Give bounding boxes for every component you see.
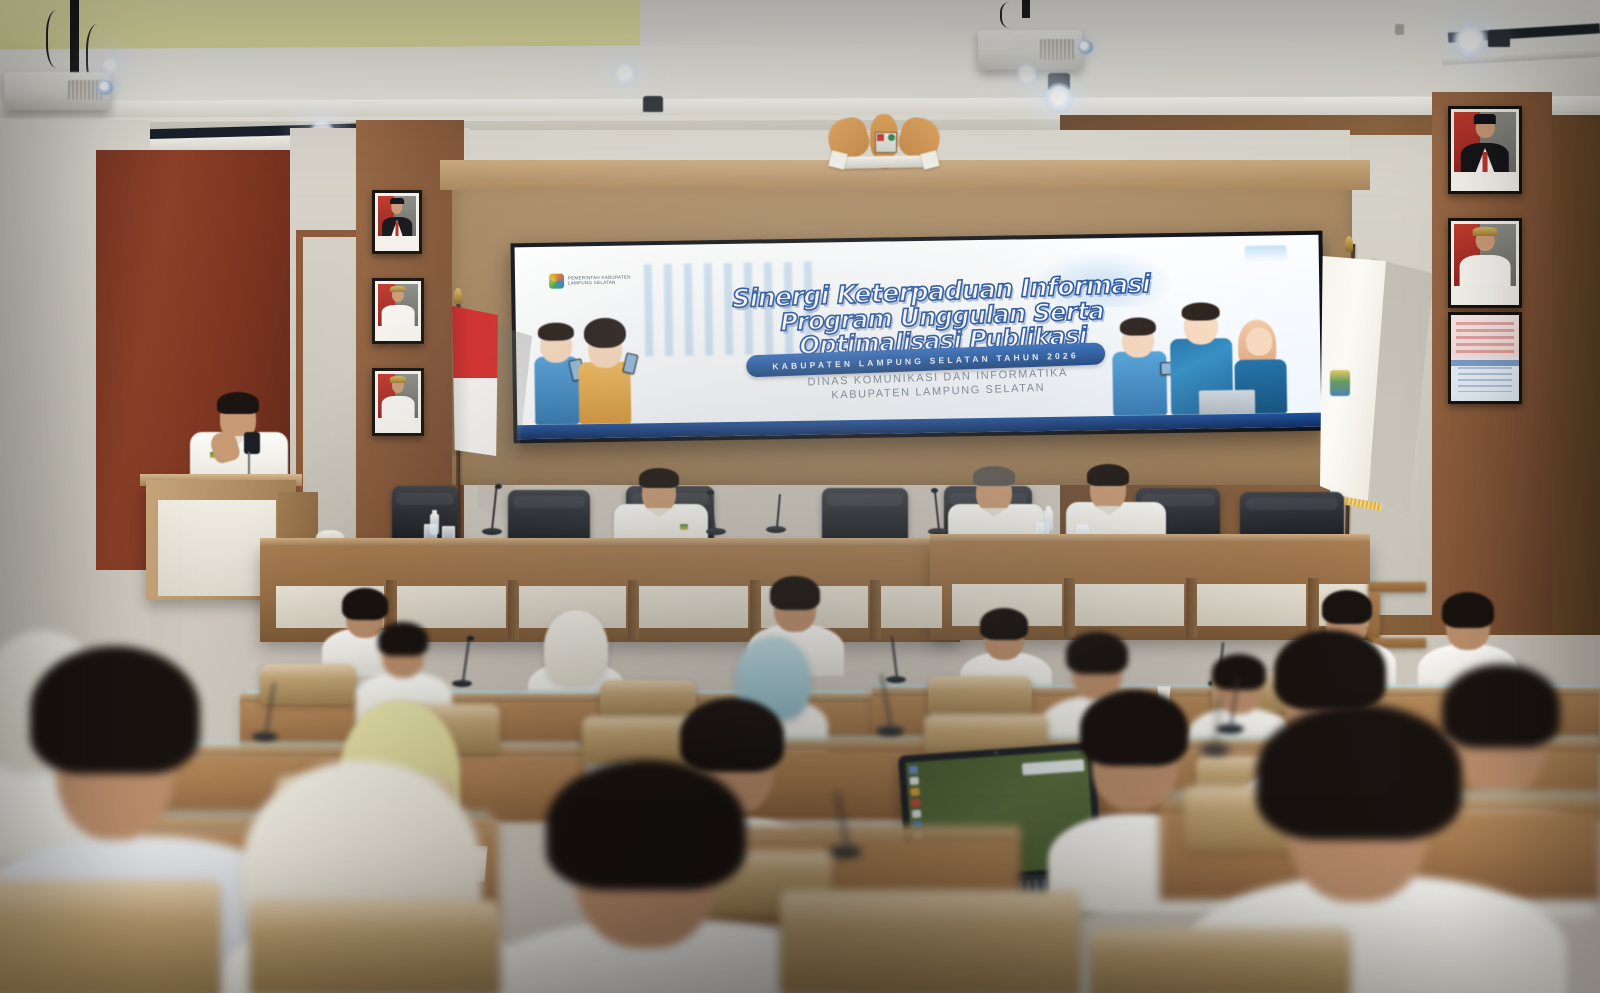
portrait-white-uniform (382, 396, 415, 418)
frame-right-3 (1448, 312, 1522, 404)
flag-regional-emblem (1330, 370, 1350, 396)
portrait-caption (375, 424, 421, 433)
portrait-white-uniform (1460, 255, 1511, 286)
audience-mic-stem-1 (462, 638, 470, 682)
projector-indicator-left (100, 55, 120, 75)
ceiling-sensor (1395, 24, 1404, 35)
mascot-girl-phone (622, 352, 638, 374)
audience-mic-stem-2 (891, 636, 898, 678)
desktop-icon-2[interactable] (910, 777, 920, 786)
downlight-ceiling-1-body (643, 96, 663, 112)
desktop-icon-3[interactable] (910, 788, 920, 797)
desktop-icon-1[interactable] (909, 766, 919, 775)
desktop-icon-5[interactable] (912, 810, 922, 819)
panelist-left-name-badge (680, 524, 688, 530)
portrait-ceremonial-cap (1473, 227, 1498, 236)
audience-hair (1322, 590, 1372, 624)
seat-back-r1-3[interactable] (928, 676, 1032, 716)
audience-hair (30, 646, 200, 774)
portrait-tie (1483, 152, 1488, 172)
document-color-band (1451, 360, 1519, 366)
head-table-divider-2 (508, 580, 519, 640)
led-government-logo: PEMERINTAH KABUPATEN LAMPUNG SELATAN (549, 272, 631, 288)
seat-back-fg-3[interactable] (780, 890, 1080, 993)
garuda-pancasila-emblem (828, 112, 940, 176)
audience-hair (1442, 592, 1494, 628)
portrait-governor-left (378, 284, 418, 326)
projector-vent-center (1040, 39, 1073, 60)
audience-hair (546, 760, 746, 890)
garuda-shield (875, 132, 897, 153)
audience-hair (770, 576, 820, 610)
frame-left-2-mat (375, 281, 421, 341)
led-video-wall: PEMERINTAH KABUPATEN LAMPUNG SELATAN (510, 231, 1325, 444)
portrait-president-left (378, 196, 416, 236)
projector-left (4, 72, 110, 110)
panel-chair-empty-2[interactable] (508, 490, 590, 544)
spotlight-center-glow (1044, 82, 1074, 112)
desktop-icon-4[interactable] (911, 799, 921, 808)
audience-hair (1066, 632, 1128, 674)
frame-right-1-mat (1451, 109, 1519, 191)
audience-hair (1080, 690, 1188, 766)
audience-hair (1256, 704, 1462, 840)
mascot-girl-hair (584, 318, 626, 349)
panelist-right-hair (1087, 464, 1129, 486)
portrait-caption (375, 242, 419, 251)
audience-hijab-white (544, 610, 608, 684)
mascot-r-woman-head (1246, 327, 1272, 355)
projector-cable-left (46, 10, 72, 68)
seat-back-fg-4[interactable] (1090, 928, 1350, 993)
panel-chair-empty-3[interactable] (822, 488, 908, 542)
frame-right-2 (1448, 218, 1522, 308)
portrait-ceremonial-cap (390, 376, 406, 383)
panel-mic-head-1 (495, 484, 502, 489)
handheld-microphone (244, 432, 260, 454)
audience-hair (1274, 630, 1386, 710)
led-logo-text: PEMERINTAH KABUPATEN LAMPUNG SELATAN (568, 274, 631, 286)
panel-water-bottle-1 (430, 514, 439, 535)
seat-back-fg-1[interactable] (0, 880, 220, 993)
seat-back-fg-2[interactable] (250, 900, 500, 993)
led-logo-line2: LAMPUNG SELATAN (568, 280, 631, 287)
panelist-left-hair (639, 468, 679, 488)
audience-mic-head-1 (467, 636, 474, 641)
portrait-white-uniform (382, 305, 415, 326)
flag-finial-left (454, 288, 462, 304)
head-table-panel-6 (880, 586, 942, 628)
panel-water-bottle-2 (1044, 510, 1053, 531)
audience-hair (980, 608, 1028, 640)
frame-left-3 (372, 368, 424, 436)
frame-right-1 (1448, 106, 1522, 194)
panel-mic-head-2 (707, 490, 714, 495)
mascot-r-laptop (1199, 390, 1255, 415)
head-table-divider-3 (628, 580, 639, 640)
portrait-caption (1451, 182, 1519, 191)
projector-cable-center (1000, 2, 1024, 28)
portrait-tie (395, 222, 398, 236)
portrait-peci-cap (390, 198, 404, 204)
frame-left-1-mat (375, 193, 419, 251)
led-logo-mark-icon (549, 273, 564, 288)
head-table-divider-5 (870, 580, 881, 640)
panel-mic-stem-3 (776, 494, 781, 528)
portrait-regent-left (378, 374, 418, 418)
head-table-divider-7 (1186, 578, 1197, 638)
portrait-peci-cap (1474, 114, 1496, 124)
led-corner-logo (1244, 245, 1286, 262)
flag-finial-right (1345, 236, 1353, 252)
portrait-ceremonial-cap (390, 286, 406, 292)
frame-right-2-mat (1451, 221, 1519, 305)
led-screen-content: PEMERINTAH KABUPATEN LAMPUNG SELATAN (515, 235, 1322, 440)
projector-vent-left (68, 80, 102, 100)
panel-mic-head-4 (931, 488, 938, 493)
portrait-caption (375, 332, 421, 341)
spotlight-right-glow (1452, 22, 1488, 58)
podium-front-panel (158, 500, 276, 596)
frame-left-1 (372, 190, 422, 254)
document-text-lines-bottom (1458, 367, 1512, 393)
speaker-hair (217, 392, 259, 414)
downlight-ceiling-1 (612, 62, 638, 84)
mascot-boy-hair (538, 322, 574, 341)
portrait-vice-regent-right (1454, 224, 1516, 286)
panelist-center-hair (973, 466, 1015, 486)
head-table-panel-8 (1074, 584, 1184, 626)
head-table-panel-4 (638, 586, 748, 628)
meeting-room-photo: PEMERINTAH KABUPATEN LAMPUNG SELATAN (0, 0, 1600, 993)
flag-fold-shading-left (452, 306, 470, 456)
frame-left-3-mat (375, 371, 421, 433)
audience-hair (378, 622, 428, 656)
laptop-webcam (994, 751, 998, 754)
portrait-caption (1451, 296, 1519, 305)
downlight-ceiling-2 (1015, 64, 1039, 84)
panelist-left (614, 468, 710, 546)
portrait-president-right (1454, 112, 1516, 172)
led-mascot-group-left (532, 305, 654, 425)
projector-lens-center (1078, 40, 1093, 54)
garuda-wing-left (822, 115, 874, 160)
garuda-ribbon-end-right (920, 150, 939, 169)
document-text-lines-top (1456, 322, 1513, 355)
spotlight-right-body (1488, 30, 1510, 47)
garuda-ribbon (842, 155, 928, 168)
panel-mic-stem-4 (934, 490, 940, 530)
framed-document-right (1451, 315, 1519, 401)
projector-lens-left (98, 80, 113, 95)
frame-left-2 (372, 278, 424, 344)
audience-fg-person-2 (510, 760, 810, 993)
